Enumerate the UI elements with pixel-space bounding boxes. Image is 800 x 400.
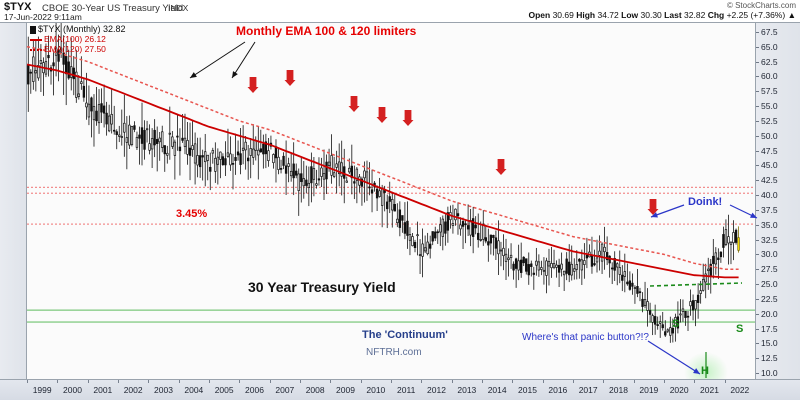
ema100-line-swatch-icon [30, 39, 42, 41]
low-value: 30.30 [641, 10, 662, 20]
date-axis-tick [421, 380, 422, 383]
price-axis-tick [756, 195, 759, 196]
date-axis-tick-label: 2022 [730, 385, 749, 395]
date-axis-tick [512, 380, 513, 383]
price-axis-tick [756, 329, 759, 330]
price-axis-tick-label: 65.0 [761, 42, 778, 52]
date-axis-tick-label: 2019 [639, 385, 658, 395]
date-axis-tick-label: 2017 [579, 385, 598, 395]
date-axis-tick-label: 2011 [397, 385, 415, 395]
candle-swatch-icon [30, 26, 36, 34]
date-axis-tick-label: 2005 [215, 385, 234, 395]
price-axis-tick [756, 62, 759, 63]
price-axis-tick [756, 269, 759, 270]
price-axis-tick [756, 32, 759, 33]
pattern-label-head: H [701, 365, 709, 377]
price-axis-tick [756, 299, 759, 300]
price-axis-tick [756, 180, 759, 181]
price-plot-area [26, 22, 756, 380]
price-axis-tick-label: 60.0 [761, 71, 778, 81]
price-axis-tick [756, 121, 759, 122]
date-axis-tick-label: 2002 [124, 385, 143, 395]
price-axis-tick [756, 47, 759, 48]
date-axis-tick [239, 380, 240, 383]
date-axis-tick [330, 380, 331, 383]
price-axis-tick [756, 314, 759, 315]
date-axis-tick [148, 380, 149, 383]
legend-ema120-label: EMA(120) 27.50 [44, 44, 106, 54]
price-axis-tick-label: 50.0 [761, 131, 778, 141]
price-axis-tick-label: 30.0 [761, 249, 778, 259]
annotation-panic-button: Where's that panic button?!? [522, 332, 649, 343]
stockcharts-screenshot: $TYX CBOE 30-Year US Treasury Yield INDX… [0, 0, 800, 400]
price-axis-tick [756, 240, 759, 241]
plot-background [27, 23, 755, 379]
price-axis: 67.565.062.560.057.555.052.550.047.545.0… [756, 22, 800, 380]
price-axis-tick [756, 225, 759, 226]
price-axis-tick [756, 343, 759, 344]
open-value: 30.69 [553, 10, 574, 20]
chg-up-arrow-icon: ▲ [788, 10, 796, 20]
date-axis-tick-label: 2021 [700, 385, 719, 395]
date-axis-tick [361, 380, 362, 383]
price-axis-tick [756, 210, 759, 211]
stockcharts-attribution: © StockCharts.com [727, 1, 796, 10]
date-axis-tick [57, 380, 58, 383]
date-axis-tick [573, 380, 574, 383]
annotation-level-345: 3.45% [176, 208, 207, 220]
price-axis-tick-label: 47.5 [761, 146, 778, 156]
last-label: Last [664, 10, 681, 20]
date-axis-tick [88, 380, 89, 383]
annotation-chart-title: 30 Year Treasury Yield [248, 279, 396, 295]
date-axis-tick-label: 2009 [336, 385, 355, 395]
price-axis-tick [756, 151, 759, 152]
left-axis-gutter [0, 22, 26, 380]
open-label: Open [528, 10, 550, 20]
price-axis-tick-label: 42.5 [761, 175, 778, 185]
price-axis-tick-label: 57.5 [761, 86, 778, 96]
pattern-label-right-shoulder: S [736, 323, 743, 335]
price-axis-tick-label: 35.0 [761, 220, 778, 230]
price-axis-tick [756, 254, 759, 255]
price-axis-tick-label: 32.5 [761, 235, 778, 245]
date-axis-tick [209, 380, 210, 383]
price-axis-tick-label: 10.0 [761, 368, 778, 378]
price-axis-tick [756, 136, 759, 137]
date-axis-tick [634, 380, 635, 383]
price-axis-tick-label: 67.5 [761, 27, 778, 37]
date-axis-tick-label: 2010 [366, 385, 385, 395]
date-axis-tick [179, 380, 180, 383]
date-axis-tick-label: 1999 [33, 385, 52, 395]
date-axis-tick-label: 2003 [154, 385, 173, 395]
series-legend: $TYX (Monthly) 32.82 EMA(100) 26.12 EMA(… [30, 24, 126, 54]
pattern-label-left-shoulder: S [672, 318, 679, 330]
chg-value: +2.25 (+7.36%) [727, 10, 786, 20]
legend-price-series: $TYX (Monthly) 32.82 [30, 24, 126, 34]
price-axis-tick [756, 76, 759, 77]
last-value: 32.82 [684, 10, 705, 20]
chg-label: Chg [708, 10, 725, 20]
date-axis-tick [300, 380, 301, 383]
symbol-index-tag: INDX [168, 3, 188, 13]
date-axis-tick-label: 2001 [93, 385, 112, 395]
price-axis-tick-label: 45.0 [761, 160, 778, 170]
price-axis-tick-label: 40.0 [761, 190, 778, 200]
annotation-ema-limiters: Monthly EMA 100 & 120 limiters [236, 24, 416, 38]
date-axis-tick [391, 380, 392, 383]
date-axis-tick [452, 380, 453, 383]
date-axis-tick [118, 380, 119, 383]
legend-ema120: EMA(120) 27.50 [30, 44, 126, 54]
date-axis: 1999200020012002200320042005200620072008… [0, 380, 800, 400]
date-axis-tick-label: 2020 [670, 385, 689, 395]
annotation-site: NFTRH.com [366, 347, 422, 358]
date-axis-tick [27, 380, 28, 383]
price-axis-tick-label: 52.5 [761, 116, 778, 126]
date-axis-tick-label: 2007 [275, 385, 294, 395]
price-axis-tick [756, 106, 759, 107]
legend-ema100-label: EMA(100) 26.12 [44, 34, 106, 44]
date-axis-tick-label: 2018 [609, 385, 628, 395]
date-axis-tick [543, 380, 544, 383]
price-axis-tick [756, 373, 759, 374]
date-axis-tick [482, 380, 483, 383]
price-axis-tick [756, 165, 759, 166]
price-axis-tick-label: 62.5 [761, 57, 778, 67]
date-axis-tick-label: 2016 [548, 385, 567, 395]
price-axis-tick-label: 20.0 [761, 309, 778, 319]
legend-price-label: $TYX (Monthly) 32.82 [38, 24, 126, 34]
date-axis-tick [603, 380, 604, 383]
price-axis-tick-label: 17.5 [761, 324, 778, 334]
price-axis-tick [756, 91, 759, 92]
annotation-doink: Doink! [688, 196, 722, 208]
date-axis-tick [270, 380, 271, 383]
price-axis-tick-label: 55.0 [761, 101, 778, 111]
high-label: High [576, 10, 595, 20]
date-axis-tick-label: 2012 [427, 385, 446, 395]
price-axis-tick-label: 22.5 [761, 294, 778, 304]
quote-datetime: 17-Jun-2022 9:11am [4, 12, 82, 22]
ohlc-quote-bar: Open 30.69 High 34.72 Low 30.30 Last 32.… [528, 10, 796, 20]
chart-header: $TYX CBOE 30-Year US Treasury Yield INDX… [0, 0, 800, 22]
ema120-line-swatch-icon [30, 49, 42, 51]
date-axis-tick-label: 2004 [184, 385, 203, 395]
date-axis-tick-label: 2014 [488, 385, 507, 395]
low-label: Low [621, 10, 638, 20]
price-axis-tick-label: 25.0 [761, 279, 778, 289]
high-value: 34.72 [597, 10, 618, 20]
date-axis-tick-label: 2006 [245, 385, 264, 395]
price-axis-tick-label: 27.5 [761, 264, 778, 274]
date-axis-tick-label: 2015 [518, 385, 537, 395]
date-axis-tick-label: 2008 [306, 385, 325, 395]
date-axis-tick-label: 2000 [63, 385, 82, 395]
price-axis-tick [756, 358, 759, 359]
annotation-continuum: The 'Continuum' [362, 329, 448, 341]
price-axis-tick-label: 15.0 [761, 338, 778, 348]
price-axis-tick-label: 37.5 [761, 205, 778, 215]
date-axis-tick [694, 380, 695, 383]
legend-ema100: EMA(100) 26.12 [30, 34, 126, 44]
date-axis-tick-label: 2013 [457, 385, 476, 395]
date-axis-tick [664, 380, 665, 383]
price-axis-tick-label: 12.5 [761, 353, 778, 363]
date-axis-tick [725, 380, 726, 383]
price-axis-tick [756, 284, 759, 285]
